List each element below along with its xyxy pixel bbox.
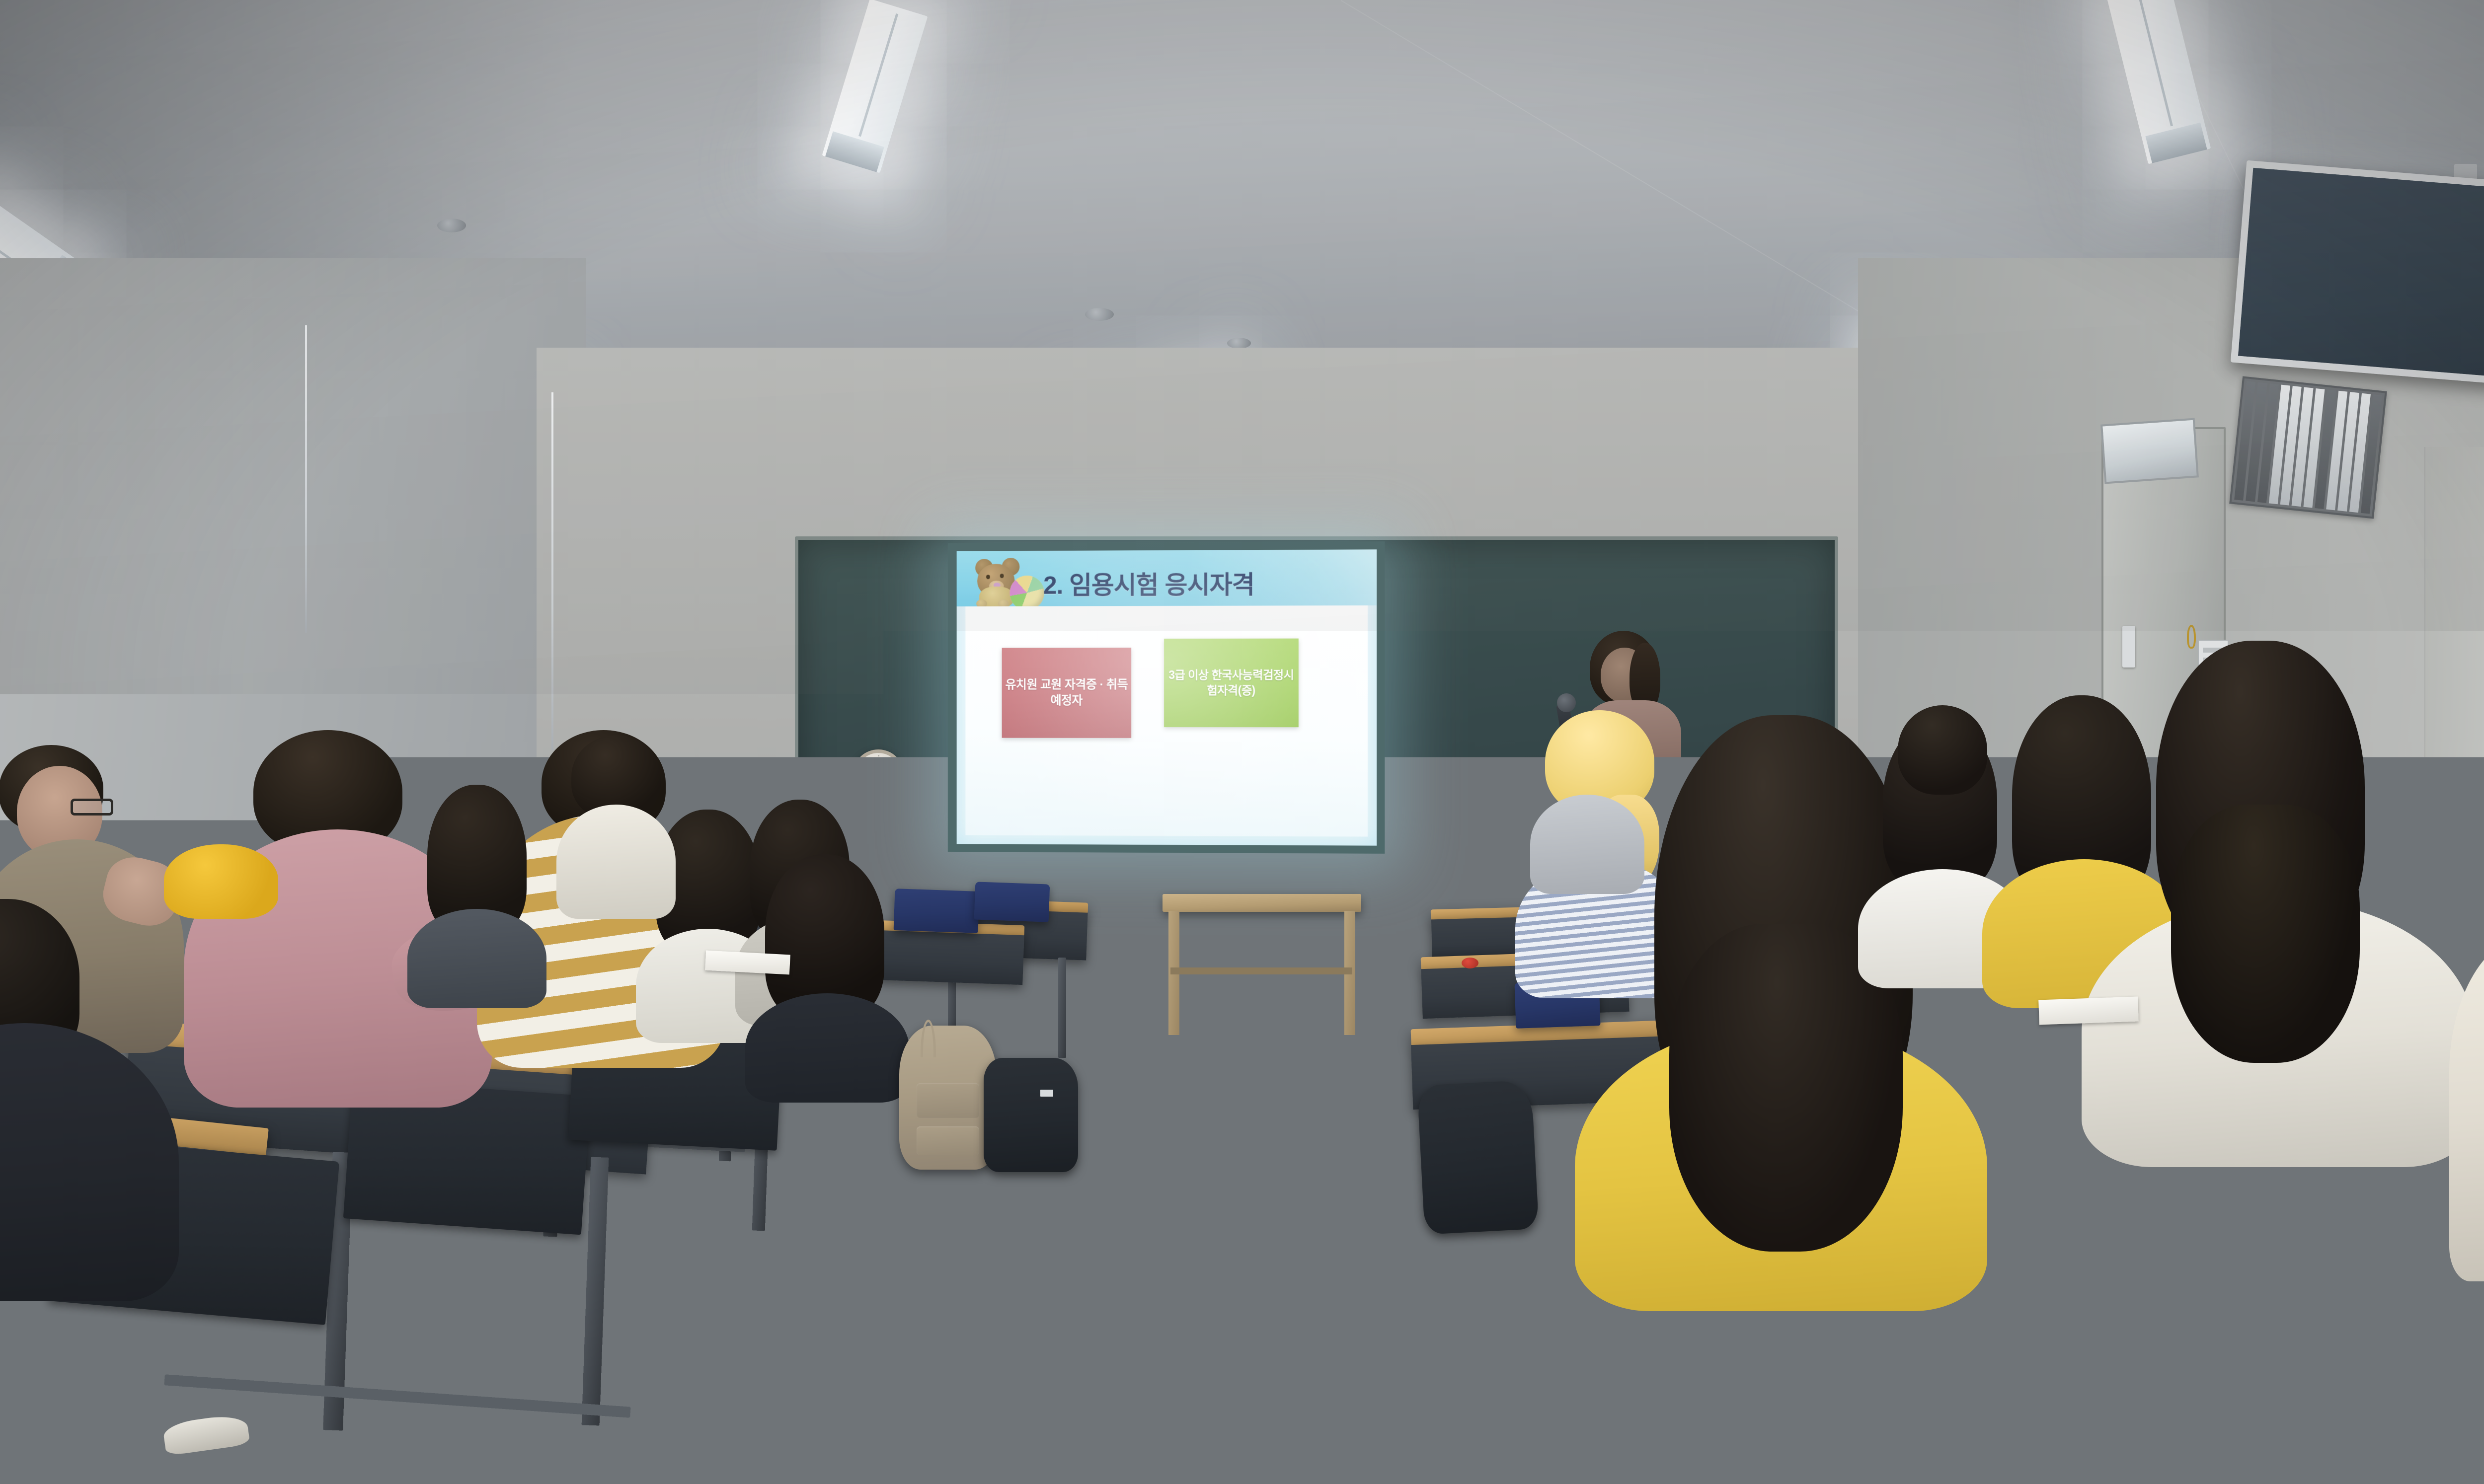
teddy-bear-icon	[967, 557, 1046, 608]
wall-monitor	[2231, 160, 2484, 394]
student-torso-back-left-1	[407, 909, 546, 1008]
presentation-slide: 2. 임용시험 응시자격 유치원 교원 자격증 · 취득 예정자 3급 이상 한…	[957, 549, 1377, 845]
floor-shading	[0, 1013, 2484, 1484]
microphone-head	[1557, 693, 1576, 712]
chair-mid-1[interactable]	[894, 889, 980, 933]
front-table	[1163, 894, 1361, 912]
slide-title: 2. 임용시험 응시자격	[1043, 565, 1254, 601]
ceiling-sprinkler	[437, 219, 466, 232]
blind-cord-right[interactable]	[551, 392, 553, 750]
wall-clock	[853, 749, 904, 801]
ceiling-fitting	[1227, 338, 1251, 349]
slide-box-red-text: 유치원 교원 자격증 · 취득 예정자	[1002, 677, 1131, 709]
chair-mid-2[interactable]	[974, 882, 1050, 922]
beach-ball-icon	[1010, 576, 1044, 610]
wall-vent	[2229, 376, 2387, 519]
slide-box-red: 유치원 교원 자격증 · 취득 예정자	[1002, 648, 1131, 738]
yellow-cap-icon	[164, 844, 278, 919]
front-table-shelf	[1170, 967, 1352, 974]
student-back-left-1	[407, 785, 546, 993]
clock-minute-hand	[878, 767, 894, 777]
red-desk-object[interactable]	[1462, 958, 1478, 968]
slide-box-green: 3급 이상 한국사능력검정시험자격(증)	[1164, 639, 1299, 728]
projection-screen: 2. 임용시험 응시자격 유치원 교원 자격증 · 취득 예정자 3급 이상 한…	[948, 541, 1385, 854]
glasses-icon	[71, 799, 113, 816]
student-torso-back-right-1	[1530, 795, 1644, 894]
slide-box-green-text: 3급 이상 한국사능력검정시험자격(증)	[1164, 668, 1299, 698]
lecture-hall-photo: 소화기	[0, 0, 2484, 1484]
door-glass-panel	[2100, 418, 2199, 484]
student-back-left-4	[556, 735, 676, 914]
student-torso-back-left-4	[556, 805, 676, 919]
student-yellow-cap	[164, 844, 278, 959]
student-back-right-2	[1883, 705, 2002, 884]
blind-cord-left[interactable]	[305, 325, 307, 633]
clock-hour-hand	[870, 776, 879, 787]
student-back-right-1	[1530, 720, 1644, 889]
student-hair-back-right-2	[1898, 705, 1987, 795]
ceiling-smoke-detector	[1085, 308, 1114, 321]
